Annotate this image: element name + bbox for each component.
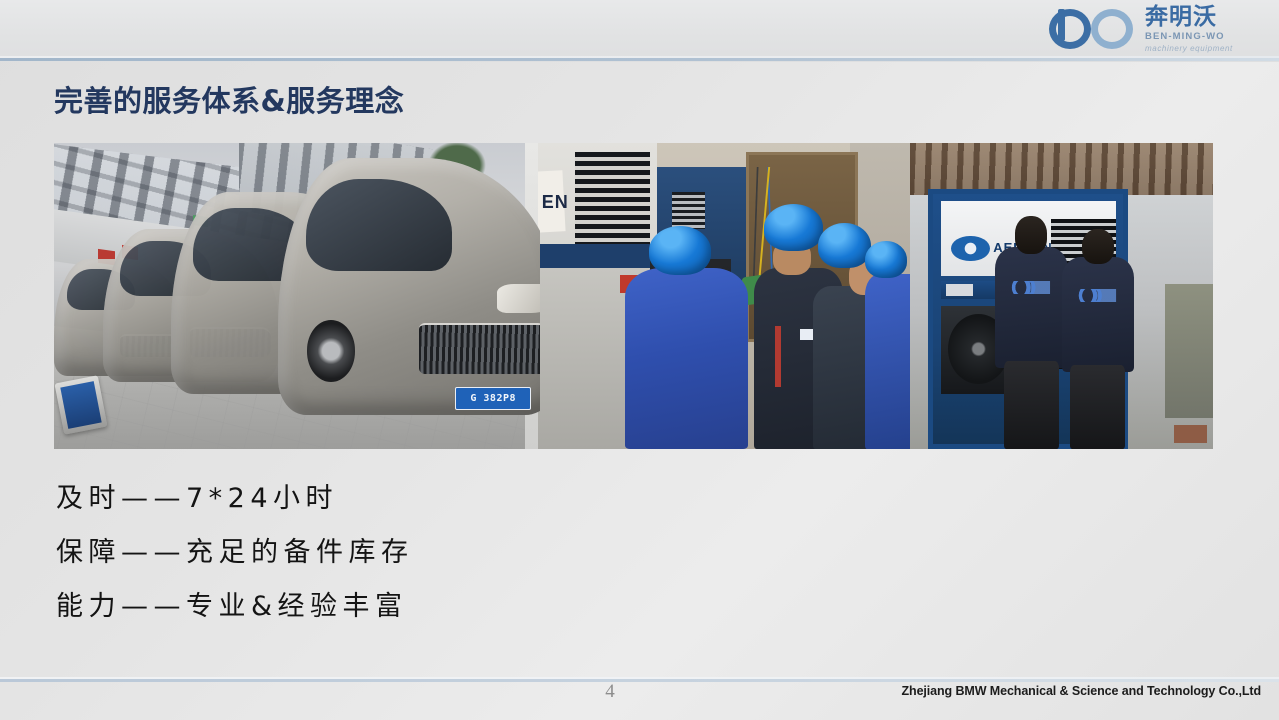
brick-on-ground [1174, 425, 1207, 443]
logo-tagline: machinery equipment [1145, 43, 1265, 54]
blue-jacket [865, 274, 910, 449]
license-plate: G 382P8 [455, 387, 531, 410]
company-logo: 奔明沃 BEN-MING-WO machinery equipment [1047, 4, 1265, 56]
slide-header: 奔明沃 BEN-MING-WO machinery equipment [0, 0, 1279, 62]
blue-hard-hat-icon [865, 241, 907, 278]
slide-title: 完善的服务体系&服务理念 [54, 78, 404, 120]
technician-fourth [865, 241, 910, 449]
company-jacket [1062, 257, 1135, 372]
corrugated-shed-roof [910, 143, 1213, 195]
headlight [497, 284, 540, 312]
engineer-head [1015, 216, 1047, 253]
front-wheel [307, 320, 356, 381]
photo-fleet-of-service-vehicles: G 382P8 Row of grey Skoda service sedans… [54, 143, 540, 449]
logo-letter-o [1091, 9, 1133, 49]
service-principle-line-3: 能力——专业&经验丰富 [56, 580, 414, 634]
footer-company-name: Zhejiang BMW Mechanical & Science and Te… [902, 684, 1262, 698]
header-divider [0, 58, 1279, 61]
photo-strip: G 382P8 Row of grey Skoda service sedans… [54, 143, 1213, 449]
photo-on-site-technicians-at-control-panel: EN Technicians in bl [538, 143, 910, 449]
technician-blue-coverall [620, 226, 754, 449]
unit-control-display [946, 284, 973, 297]
parking-sign-board [54, 375, 107, 434]
second-unit-louver [672, 192, 705, 229]
page-number: 4 [596, 681, 624, 703]
blue-hard-hat-icon [649, 226, 711, 275]
company-jacket [995, 247, 1068, 368]
logo-letter-b [1049, 9, 1091, 49]
logo-english-name: BEN-MING-WO [1145, 31, 1265, 43]
jacket-back-logo [1009, 281, 1051, 294]
footer-divider [0, 679, 1279, 682]
engineer-head [1082, 229, 1114, 264]
engineer-trousers [1004, 361, 1059, 449]
uniform-red-stripe [775, 326, 780, 388]
service-principle-line-2: 保障——充足的备件库存 [56, 526, 414, 580]
logo-wordmark: 奔明沃 BEN-MING-WO machinery equipment [1145, 4, 1265, 54]
blue-hard-hat-icon [818, 223, 870, 268]
aerzen-logo-icon [951, 236, 989, 262]
front-grille [419, 323, 541, 374]
photo-technicians-servicing-aerzen-blower: AERZEN Two uniformed engineers working o… [910, 143, 1213, 449]
engineer-right [1062, 229, 1135, 449]
engineer-left [995, 216, 1068, 449]
jacket-back-logo [1076, 289, 1118, 302]
machine-label: EN [542, 192, 569, 213]
logo-b-stem [1058, 9, 1065, 41]
service-principles-list: 及时——7*24小时 保障——充足的备件库存 能力——专业&经验丰富 [56, 472, 414, 634]
engineer-trousers [1070, 365, 1125, 449]
logo-chinese-name: 奔明沃 [1145, 4, 1265, 31]
bo-monogram-icon [1047, 7, 1143, 51]
blue-coverall [625, 268, 748, 449]
container-shed [1165, 284, 1213, 419]
service-principle-line-1: 及时——7*24小时 [56, 472, 414, 526]
windshield [306, 179, 453, 272]
